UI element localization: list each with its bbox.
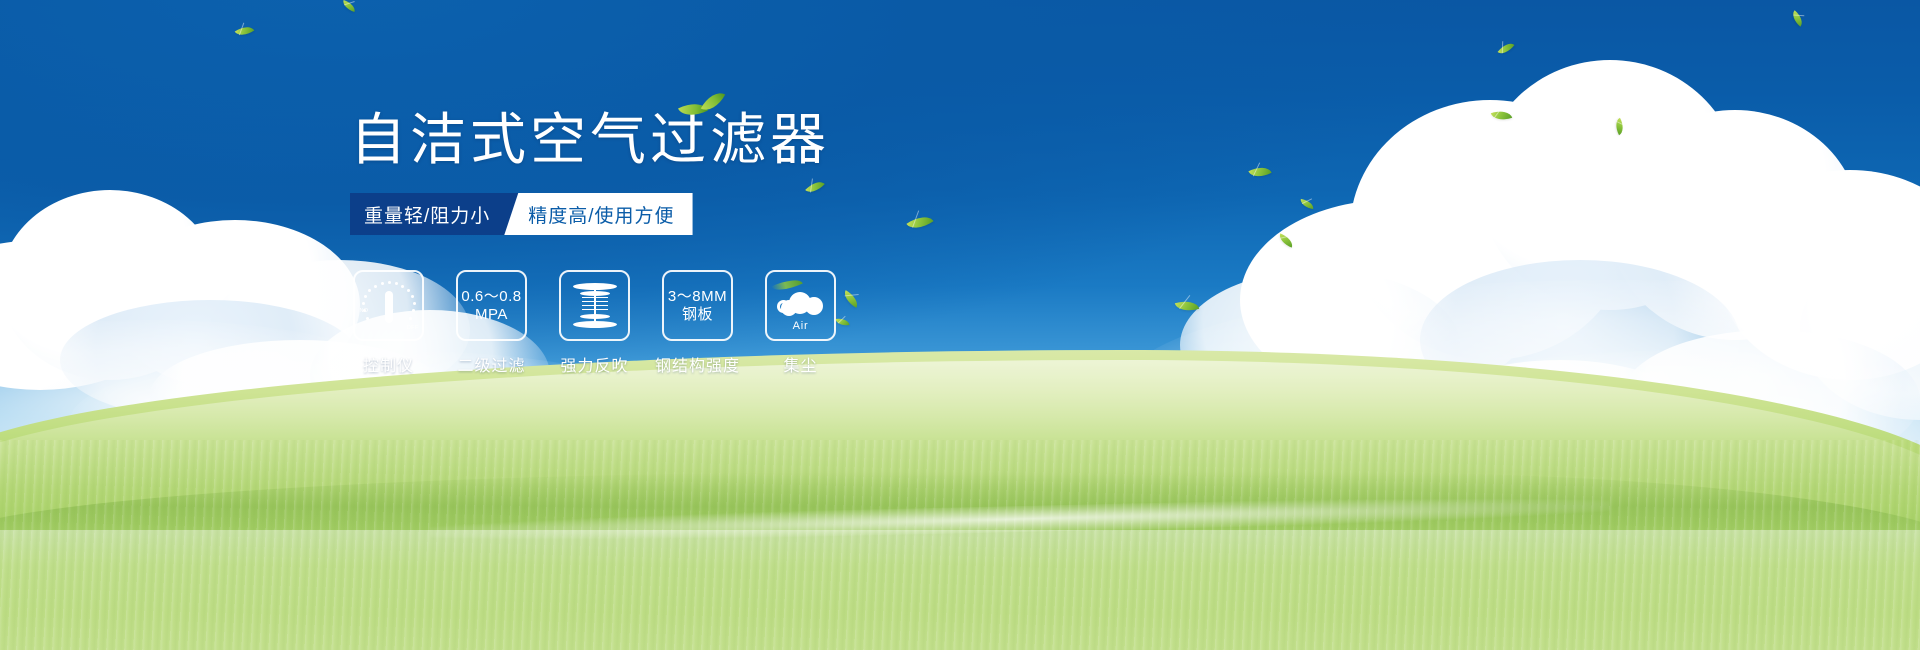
feature-label: 控制仪 [363,352,414,376]
filter-stack-icon [573,283,617,329]
feature-icon-row: NO OFF 控制仪 0.6～0.8 MPA 二级过滤 [352,270,837,376]
feature-icon-box [559,270,630,341]
feature-icon-box: 0.6～0.8 MPA [456,270,527,341]
feature-label: 集尘 [783,352,817,376]
badge-high-precision-easy-use[interactable]: 精度高/使用方便 [504,193,692,235]
air-cloud-icon: Air [775,284,827,328]
feature-item-two-stage-filter[interactable]: 0.6～0.8 MPA 二级过滤 [455,270,528,376]
feature-item-steel-strength[interactable]: 3～8MM 钢板 钢结构强度 [661,270,734,376]
badge-lightweight-low-resistance[interactable]: 重量轻/阻力小 [350,193,518,235]
air-label: Air [775,320,827,332]
steel-thickness: 3～8MM [668,288,727,306]
feature-item-controller[interactable]: NO OFF 控制仪 [352,270,425,376]
dial-label-off: OFF [407,325,419,331]
feature-item-dust-collection[interactable]: Air 集尘 [764,270,837,376]
feature-icon-box: 3～8MM 钢板 [662,270,733,341]
pressure-unit: MPA [461,306,521,324]
dial-label-no: NO [360,308,369,314]
feature-label: 二级过滤 [457,352,525,376]
banner-content: 自洁式空气过滤器 重量轻/阻力小 精度高/使用方便 [0,0,1920,650]
steel-material: 钢板 [668,306,727,324]
pressure-text-icon: 0.6～0.8 MPA [461,288,521,324]
feature-item-strong-backblow[interactable]: 强力反吹 [558,270,631,376]
steel-plate-text-icon: 3～8MM 钢板 [668,288,727,324]
page-title: 自洁式空气过滤器 [350,112,830,168]
feature-label: 钢结构强度 [655,352,740,376]
leaf-icon [680,92,734,122]
feature-icon-box: Air [765,270,836,341]
feature-label: 强力反吹 [560,352,628,376]
feature-icon-box: NO OFF [353,270,424,341]
pressure-value: 0.6～0.8 [461,288,521,306]
product-hero-banner: 自洁式空气过滤器 重量轻/阻力小 精度高/使用方便 [0,0,1920,650]
feature-badge-row: 重量轻/阻力小 精度高/使用方便 [350,193,693,235]
control-dial-icon: NO OFF [361,281,417,331]
